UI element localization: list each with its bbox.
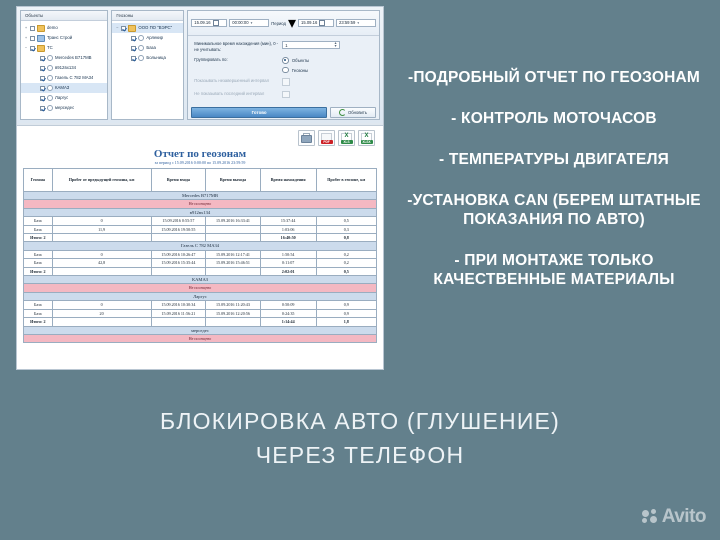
refresh-button[interactable]: Обновить xyxy=(330,107,376,118)
table-total-cell-exit xyxy=(206,318,261,326)
date-range-bar: 15.09.16 00:00:00 ▾ Период ▾ 15.09.16 23… xyxy=(188,11,379,36)
table-cell-mileage-prev: 0 xyxy=(52,301,151,309)
object-icon xyxy=(47,55,53,61)
time-to-chevron-down-icon[interactable]: ▾ xyxy=(357,19,359,27)
refresh-label: Обновить xyxy=(348,108,367,117)
table-cell-exit: 15.09.2016 11:20:43 xyxy=(206,301,261,309)
table-row: База11,915.09.2016 19:50:551:03:060,3 xyxy=(24,225,377,233)
table-group-label: КАМАЗ xyxy=(24,276,377,284)
hide-last-label: Не показывать последний интервал xyxy=(194,91,282,97)
date-to-value: 15.09.16 xyxy=(301,19,317,27)
object-tree-item-label: Транс Строй xyxy=(47,33,72,43)
object-tree-item[interactable]: Mercedes В717МВ xyxy=(21,53,107,63)
promo-bottom-line1: БЛОКИРОВКА АВТО (ГЛУШЕНИЕ) xyxy=(40,404,680,438)
report-area: PDF XXLS XXLSX Отчет по геозонам за пери… xyxy=(17,125,383,369)
object-tree-item[interactable]: КАМАЗ xyxy=(21,83,107,93)
table-column-header: Геозона xyxy=(24,169,53,192)
xlsx-label: XLSX xyxy=(359,140,374,144)
object-icon xyxy=(47,85,53,91)
action-bar: Готово Обновить xyxy=(188,106,379,119)
table-total-cell-duration: 1:14:44 xyxy=(260,318,316,326)
table-total-cell-exit xyxy=(206,267,261,275)
chevron-down-icon[interactable]: ▾ xyxy=(251,19,253,27)
calendar-icon[interactable] xyxy=(213,20,219,26)
zone-icon xyxy=(138,35,144,41)
table-cell-zone: База xyxy=(24,309,53,317)
refresh-icon xyxy=(339,109,346,116)
xls-icon[interactable]: XXLS xyxy=(338,130,355,146)
table-cell-mileage-prev: 20 xyxy=(52,309,151,317)
table-cell-mileage-prev: 0 xyxy=(52,217,151,225)
checkbox-icon[interactable] xyxy=(40,56,45,61)
avito-watermark: Avito xyxy=(642,506,706,528)
export-toolbar: PDF XXLS XXLSX xyxy=(23,130,375,146)
table-cell-enter: 15.09.2016 19:50:55 xyxy=(151,225,206,233)
table-no-visit-row: Не посещено xyxy=(24,334,377,342)
table-no-visit-label: Не посещено xyxy=(24,334,377,342)
checkbox-icon[interactable] xyxy=(30,36,35,41)
time-from-field[interactable]: 00:00:00 ▾ xyxy=(229,19,269,27)
table-group-row: КАМАЗ xyxy=(24,276,377,284)
table-row: База015.09.2016 10:30:3415.09.2016 11:20… xyxy=(24,301,377,309)
table-cell-mileage-prev: 11,9 xyxy=(52,225,151,233)
hide-last-row: Не показывать последний интервал xyxy=(194,91,374,99)
geozone-tree-item-label: ООО ПО "ВЭРС" xyxy=(138,23,172,33)
table-row: База42,815.09.2016 15:35:4415.09.2016 15… xyxy=(24,259,377,267)
zone-icon xyxy=(138,45,144,51)
table-total-cell-zone: Итого: 2 xyxy=(24,318,53,326)
avito-dots-icon xyxy=(642,509,658,525)
table-cell-exit xyxy=(206,225,261,233)
geozones-tree[interactable]: −ООО ПО "ВЭРС"АрлекирБазаБольница xyxy=(112,21,183,63)
pdf-icon[interactable]: PDF xyxy=(318,130,335,146)
table-total-row: Итого: 216:40:500,8 xyxy=(24,234,377,242)
geozone-tree-item-label: Больница xyxy=(146,53,166,63)
checkbox-icon[interactable] xyxy=(40,66,45,71)
checkbox-icon[interactable] xyxy=(131,36,136,41)
expander-spacer-icon xyxy=(34,56,38,60)
checkbox-icon[interactable] xyxy=(40,86,45,91)
expander-spacer-icon xyxy=(34,106,38,110)
table-cell-mileage-prev: 42,8 xyxy=(52,259,151,267)
table-cell-zone: База xyxy=(24,217,53,225)
table-total-cell-exit xyxy=(206,234,261,242)
radio-objects-icon[interactable] xyxy=(282,57,289,64)
radio-geozones-icon[interactable] xyxy=(282,67,289,74)
time-from-value: 00:00:00 xyxy=(232,19,248,27)
table-header-row: ГеозонаПробег от предыдущей геозоны, кмВ… xyxy=(24,169,377,192)
object-tree-item-label: в912вх134 xyxy=(55,63,76,73)
object-tree-item[interactable]: Ларгус xyxy=(21,93,107,103)
table-cell-zone: База xyxy=(24,259,53,267)
object-tree-item[interactable]: +Транс Строй xyxy=(21,33,107,43)
stepper-arrows-icon[interactable]: ▲▼ xyxy=(334,42,337,49)
report-subtitle: за период с 15.09.2016 0:00:00 по 15.09.… xyxy=(23,160,377,165)
table-group-row: мерседес xyxy=(24,326,377,334)
tracking-report-window: Объекты +demo+Транс Строй−ТСMercedes В71… xyxy=(16,6,384,370)
table-cell-mileage-prev: 0 xyxy=(52,250,151,258)
expander-spacer-icon xyxy=(34,96,38,100)
table-group-row: Ларгус xyxy=(24,292,377,300)
geozone-tree-item[interactable]: Арлекир xyxy=(112,33,183,43)
table-total-cell-enter xyxy=(151,267,206,275)
table-group-label: мерседес xyxy=(24,326,377,334)
group-by-options[interactable]: Объекты Геозоны xyxy=(282,57,309,73)
pdf-label: PDF xyxy=(319,140,334,144)
table-body: Mercedes В717МВНе посещенов912вх134База0… xyxy=(24,192,377,343)
promo-feature-item: - КОНТРОЛЬ МОТОЧАСОВ xyxy=(392,109,716,128)
table-cell-exit: 15.09.2016 16:33:41 xyxy=(206,217,261,225)
table-cell-exit: 15.09.2016 15:46:51 xyxy=(206,259,261,267)
objects-panel-title: Объекты xyxy=(21,11,107,21)
geozone-tree-item[interactable]: −ООО ПО "ВЭРС" xyxy=(112,23,183,33)
promo-bottom-line2: ЧЕРЕЗ ТЕЛЕФОН xyxy=(40,438,680,472)
xls-label: XLS xyxy=(339,140,354,144)
time-to-field[interactable]: 23:59:59 ▾ xyxy=(336,19,376,27)
object-icon xyxy=(47,105,53,111)
report-settings-panel: 15.09.16 00:00:00 ▾ Период ▾ 15.09.16 23… xyxy=(187,10,380,120)
radio-geozones-label: Геозоны xyxy=(292,68,308,73)
table-total-cell-duration: 16:40:50 xyxy=(260,234,316,242)
table-total-cell-enter xyxy=(151,318,206,326)
table-cell-exit: 15.09.2016 12:20:56 xyxy=(206,309,261,317)
object-icon xyxy=(47,75,53,81)
min-stay-row: Минимальное время нахождения (мин), 0 - … xyxy=(194,41,374,52)
table-total-cell-mileage-in: 1,8 xyxy=(316,318,376,326)
table-column-header: Пробег от предыдущей геозоны, км xyxy=(52,169,151,192)
objects-panel: Объекты +demo+Транс Строй−ТСMercedes В71… xyxy=(20,10,108,120)
table-no-visit-row: Не посещено xyxy=(24,200,377,208)
geozone-tree-item-label: База xyxy=(146,43,156,53)
folder-blue-icon xyxy=(37,35,45,42)
print-icon[interactable] xyxy=(298,130,315,146)
table-group-row: Mercedes В717МВ xyxy=(24,192,377,200)
table-cell-duration: 1:03:06 xyxy=(260,225,316,233)
date-from-value: 15.09.16 xyxy=(194,19,210,27)
table-column-header: Пробег в геозоне, км xyxy=(316,169,376,192)
expander-spacer-icon xyxy=(125,56,129,60)
table-cell-exit: 15.09.2016 12:17:41 xyxy=(206,250,261,258)
table-cell-zone: База xyxy=(24,225,53,233)
expander-spacer-icon xyxy=(34,86,38,90)
promo-feature-item: -ПОДРОБНЫЙ ОТЧЕТ ПО ГЕОЗОНАМ xyxy=(392,68,716,87)
date-from-field[interactable]: 15.09.16 xyxy=(191,19,227,27)
group-by-row: Группировать по: Объекты Геозоны xyxy=(194,57,374,73)
table-cell-enter: 15.09.2016 10:30:34 xyxy=(151,301,206,309)
table-cell-mileage-in: 0,9 xyxy=(316,309,376,317)
table-total-cell-mileage-prev xyxy=(52,234,151,242)
group-by-label: Группировать по: xyxy=(194,57,282,63)
table-total-row: Итого: 22:02:010,5 xyxy=(24,267,377,275)
expander-spacer-icon xyxy=(125,46,129,50)
table-cell-enter: 15.09.2016 11:56:21 xyxy=(151,309,206,317)
table-cell-enter: 15.09.2016 10:26:47 xyxy=(151,250,206,258)
table-cell-duration: 0:24:35 xyxy=(260,309,316,317)
table-total-cell-zone: Итого: 2 xyxy=(24,267,53,275)
checkbox-icon[interactable] xyxy=(131,46,136,51)
table-head: ГеозонаПробег от предыдущей геозоны, кмВ… xyxy=(24,169,377,192)
expander-icon[interactable]: + xyxy=(24,26,28,30)
checkbox-icon[interactable] xyxy=(30,26,35,31)
expander-icon[interactable]: − xyxy=(115,26,119,30)
min-stay-value: 1 xyxy=(285,43,287,48)
table-total-cell-mileage-prev xyxy=(52,267,151,275)
table-group-label: Ларгус xyxy=(24,292,377,300)
checkbox-icon[interactable] xyxy=(121,26,126,31)
table-total-row: Итого: 21:14:441,8 xyxy=(24,318,377,326)
object-tree-item-label: demo xyxy=(47,23,58,33)
expander-spacer-icon xyxy=(34,76,38,80)
object-tree-item-label: Ларгус xyxy=(55,93,68,103)
table-column-header: Время входа xyxy=(151,169,206,192)
table-group-label: Mercedes В717МВ xyxy=(24,192,377,200)
promo-bottom-text: БЛОКИРОВКА АВТО (ГЛУШЕНИЕ) ЧЕРЕЗ ТЕЛЕФОН xyxy=(40,404,680,472)
folder-icon xyxy=(128,25,136,32)
min-stay-label: Минимальное время нахождения (мин), 0 - … xyxy=(194,41,282,52)
table-no-visit-label: Не посещено xyxy=(24,284,377,292)
table-total-cell-mileage-in: 0,8 xyxy=(316,234,376,242)
object-icon xyxy=(47,65,53,71)
settings-body: Минимальное время нахождения (мин), 0 - … xyxy=(188,36,379,98)
avito-brand-label: Avito xyxy=(662,506,706,528)
table-cell-duration: 0:11:07 xyxy=(260,259,316,267)
go-button[interactable]: Готово xyxy=(191,107,327,118)
checkbox-icon[interactable] xyxy=(30,46,35,51)
table-cell-mileage-in: 0,3 xyxy=(316,225,376,233)
table-cell-duration: 1:50:54 xyxy=(260,250,316,258)
checkbox-icon[interactable] xyxy=(40,106,45,111)
promo-feature-item: - ПРИ МОНТАЖЕ ТОЛЬКО КАЧЕСТВЕННЫЕ МАТЕРИ… xyxy=(392,251,716,289)
checkbox-icon[interactable] xyxy=(40,96,45,101)
radio-objects-label: Объекты xyxy=(292,58,309,63)
expander-spacer-icon xyxy=(125,36,129,40)
object-tree-item[interactable]: в912вх134 xyxy=(21,63,107,73)
promo-feature-item: -УСТАНОВКА CAN (БЕРЕМ ШТАТНЫЕ ПОКАЗАНИЯ … xyxy=(392,191,716,229)
table-no-visit-row: Не посещено xyxy=(24,284,377,292)
radio-geozones[interactable]: Геозоны xyxy=(282,67,309,74)
promo-feature-item: - ТЕМПЕРАТУРЫ ДВИГАТЕЛЯ xyxy=(392,150,716,169)
geozone-report-table: ГеозонаПробег от предыдущей геозоны, кмВ… xyxy=(23,168,377,343)
table-total-cell-zone: Итого: 2 xyxy=(24,234,53,242)
table-cell-mileage-in: 0,2 xyxy=(316,259,376,267)
table-cell-duration: 0:50:09 xyxy=(260,301,316,309)
table-total-cell-mileage-in: 0,5 xyxy=(316,267,376,275)
object-tree-item-label: КАМАЗ xyxy=(55,83,69,93)
geozone-tree-item-label: Арлекир xyxy=(146,33,163,43)
table-cell-duration: 15:37:44 xyxy=(260,217,316,225)
object-tree-item-label: Mercedes В717МВ xyxy=(55,53,92,63)
period-label: Период xyxy=(271,21,286,26)
folder-icon xyxy=(37,45,45,52)
table-cell-mileage-in: 0,9 xyxy=(316,301,376,309)
table-cell-mileage-in: 0,5 xyxy=(316,217,376,225)
table-row: База015.09.2016 0:55:5715.09.2016 16:33:… xyxy=(24,217,377,225)
table-cell-zone: База xyxy=(24,301,53,309)
calendar-to-icon[interactable] xyxy=(319,20,325,26)
table-cell-zone: База xyxy=(24,250,53,258)
expander-icon[interactable]: − xyxy=(24,46,28,50)
show-unfinished-label: Показывать незавершенный интервал xyxy=(194,78,282,84)
folder-icon xyxy=(37,25,45,32)
object-icon xyxy=(47,95,53,101)
min-stay-stepper[interactable]: 1 ▲▼ xyxy=(282,41,340,49)
date-to-field[interactable]: 15.09.16 xyxy=(298,19,334,27)
geozone-tree-item[interactable]: База xyxy=(112,43,183,53)
checkbox-icon[interactable] xyxy=(40,76,45,81)
table-group-row: Газель С 782 МА34 xyxy=(24,242,377,250)
object-tree-item[interactable]: −ТС xyxy=(21,43,107,53)
table-total-cell-mileage-prev xyxy=(52,318,151,326)
object-tree-item-label: мерседес xyxy=(55,103,74,113)
table-group-row: в912вх134 xyxy=(24,208,377,216)
table-total-cell-duration: 2:02:01 xyxy=(260,267,316,275)
table-group-label: в912вх134 xyxy=(24,208,377,216)
table-cell-mileage-in: 0,2 xyxy=(316,250,376,258)
config-strip: Объекты +demo+Транс Строй−ТСMercedes В71… xyxy=(17,7,383,123)
object-tree-item[interactable]: Газель С 782 МА34 xyxy=(21,73,107,83)
expander-icon[interactable]: + xyxy=(24,36,28,40)
show-unfinished-row: Показывать незавершенный интервал xyxy=(194,78,374,86)
table-column-header: Время выхода xyxy=(206,169,261,192)
report-title: Отчет по геозонам xyxy=(23,148,377,160)
table-column-header: Время нахождения xyxy=(260,169,316,192)
table-row: База015.09.2016 10:26:4715.09.2016 12:17… xyxy=(24,250,377,258)
table-group-label: Газель С 782 МА34 xyxy=(24,242,377,250)
object-tree-item[interactable]: +demo xyxy=(21,23,107,33)
objects-tree[interactable]: +demo+Транс Строй−ТСMercedes В717МВв912в… xyxy=(21,21,107,113)
object-tree-item-label: ТС xyxy=(47,43,53,53)
time-to-value: 23:59:59 xyxy=(339,19,355,27)
table-total-cell-enter xyxy=(151,234,206,242)
table-no-visit-label: Не посещено xyxy=(24,200,377,208)
show-unfinished-checkbox xyxy=(282,78,290,86)
xlsx-icon[interactable]: XXLSX xyxy=(358,130,375,146)
table-cell-enter: 15.09.2016 15:35:44 xyxy=(151,259,206,267)
expander-spacer-icon xyxy=(34,66,38,70)
table-row: База2015.09.2016 11:56:2115.09.2016 12:2… xyxy=(24,309,377,317)
zone-icon xyxy=(138,55,144,61)
checkbox-icon[interactable] xyxy=(131,56,136,61)
geozone-tree-item[interactable]: Больница xyxy=(112,53,183,63)
table-cell-enter: 15.09.2016 0:55:57 xyxy=(151,217,206,225)
hide-last-checkbox xyxy=(282,91,290,99)
promo-feature-list: -ПОДРОБНЫЙ ОТЧЕТ ПО ГЕОЗОНАМ- КОНТРОЛЬ М… xyxy=(392,68,716,311)
geozones-panel-title: Геозоны xyxy=(112,11,183,21)
radio-objects[interactable]: Объекты xyxy=(282,57,309,64)
object-tree-item[interactable]: мерседес xyxy=(21,103,107,113)
period-chevron-down-icon[interactable]: ▾ xyxy=(288,13,296,33)
geozones-panel: Геозоны −ООО ПО "ВЭРС"АрлекирБазаБольниц… xyxy=(111,10,184,120)
object-tree-item-label: Газель С 782 МА34 xyxy=(55,73,93,83)
